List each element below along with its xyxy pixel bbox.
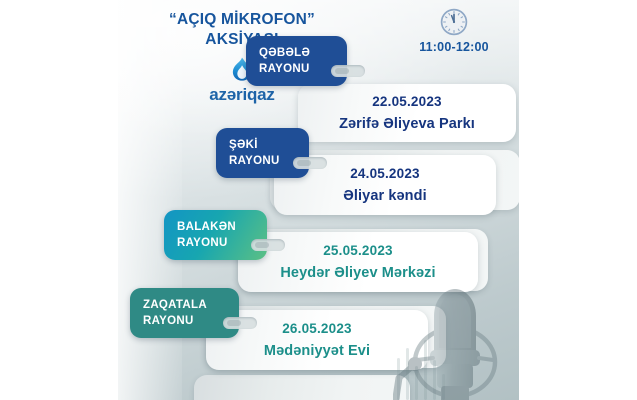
headline-line-1: “AÇIQ MİKROFON” bbox=[169, 11, 315, 28]
event-date-2: 24.05.2023 bbox=[350, 166, 420, 181]
event-date-4: 26.05.2023 bbox=[282, 321, 352, 336]
event-date-1: 22.05.2023 bbox=[372, 94, 442, 109]
district-badge-zaqatala-line2: RAYONU bbox=[143, 313, 227, 329]
district-badge-qebele-line1: QƏBƏLƏ bbox=[259, 45, 335, 61]
district-badge-balaken[interactable]: BALAKƏN RAYONU bbox=[164, 210, 267, 260]
event-date-3: 25.05.2023 bbox=[323, 243, 393, 258]
event-time-range: 11:00-12:00 bbox=[394, 40, 514, 54]
event-place-4: Mədəniyyət Evi bbox=[264, 343, 370, 359]
district-badge-qebele[interactable]: QƏBƏLƏ RAYONU bbox=[246, 36, 347, 86]
event-place-2: Əliyar kəndi bbox=[343, 188, 426, 204]
connector-notch-3 bbox=[251, 239, 285, 251]
district-badge-balaken-line1: BALAKƏN bbox=[177, 219, 255, 235]
event-place-1: Zərifə Əliyeva Parkı bbox=[339, 116, 475, 132]
event-card-1[interactable]: 22.05.2023 Zərifə Əliyeva Parkı bbox=[298, 84, 516, 142]
card-peek-5 bbox=[194, 375, 410, 400]
connector-notch-2 bbox=[293, 157, 327, 169]
event-time-block: 11:00-12:00 bbox=[394, 8, 514, 54]
screenshot-canvas: “AÇIQ MİKROFON” AKSİYASI azəriqaz bbox=[0, 0, 637, 400]
district-badge-seki[interactable]: ŞƏKİ RAYONU bbox=[216, 128, 309, 178]
district-badge-zaqatala-line1: ZAQATALA bbox=[143, 297, 227, 313]
district-badge-seki-line1: ŞƏKİ bbox=[229, 137, 297, 153]
district-badge-balaken-line2: RAYONU bbox=[177, 235, 255, 251]
connector-notch-1 bbox=[331, 65, 365, 77]
studio-microphone-icon bbox=[393, 278, 519, 400]
district-badge-seki-line2: RAYONU bbox=[229, 153, 297, 169]
district-badge-qebele-line2: RAYONU bbox=[259, 61, 335, 77]
poster-artwork: “AÇIQ MİKROFON” AKSİYASI azəriqaz bbox=[118, 0, 519, 400]
district-badge-zaqatala[interactable]: ZAQATALA RAYONU bbox=[130, 288, 239, 338]
clock-icon bbox=[440, 8, 468, 36]
connector-notch-4 bbox=[223, 317, 257, 329]
